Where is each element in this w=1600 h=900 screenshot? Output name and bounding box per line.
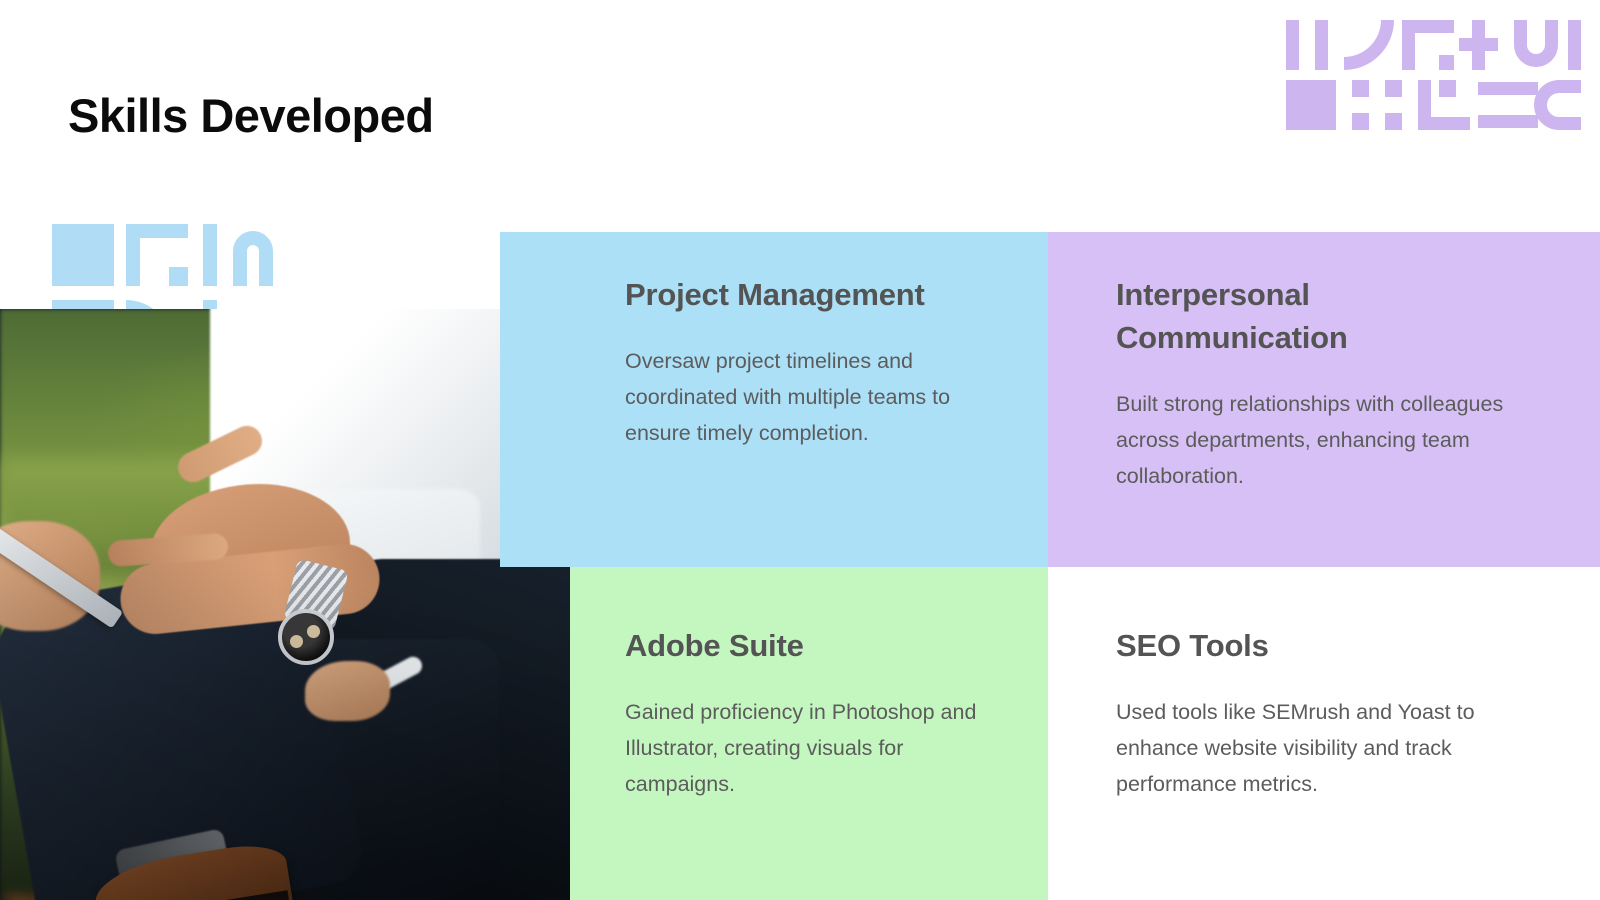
skill-card-interpersonal-communication: Interpersonal Communication Built strong… — [1048, 232, 1600, 567]
page-title: Skills Developed — [68, 92, 434, 139]
decorative-pattern-top-right — [1282, 18, 1582, 134]
photo-two-professionals-outdoors — [0, 309, 570, 900]
skill-card-description: Gained proficiency in Photoshop and Illu… — [625, 694, 988, 802]
skill-card-title: Interpersonal Communication — [1116, 274, 1540, 360]
skill-card-project-management: Project Management Oversaw project timel… — [500, 232, 1048, 567]
skill-card-adobe-suite: Adobe Suite Gained proficiency in Photos… — [570, 567, 1048, 900]
skill-card-description: Used tools like SEMrush and Yoast to enh… — [1116, 694, 1520, 802]
photo-vignette — [0, 309, 570, 900]
skill-card-title: Project Management — [625, 274, 988, 317]
skill-card-title: SEO Tools — [1116, 625, 1520, 668]
skill-card-title: Adobe Suite — [625, 625, 988, 668]
skill-card-description: Built strong relationships with colleagu… — [1116, 386, 1540, 494]
skill-card-description: Oversaw project timelines and coordinate… — [625, 343, 988, 451]
skill-card-seo-tools: SEO Tools Used tools like SEMrush and Yo… — [1048, 567, 1600, 900]
